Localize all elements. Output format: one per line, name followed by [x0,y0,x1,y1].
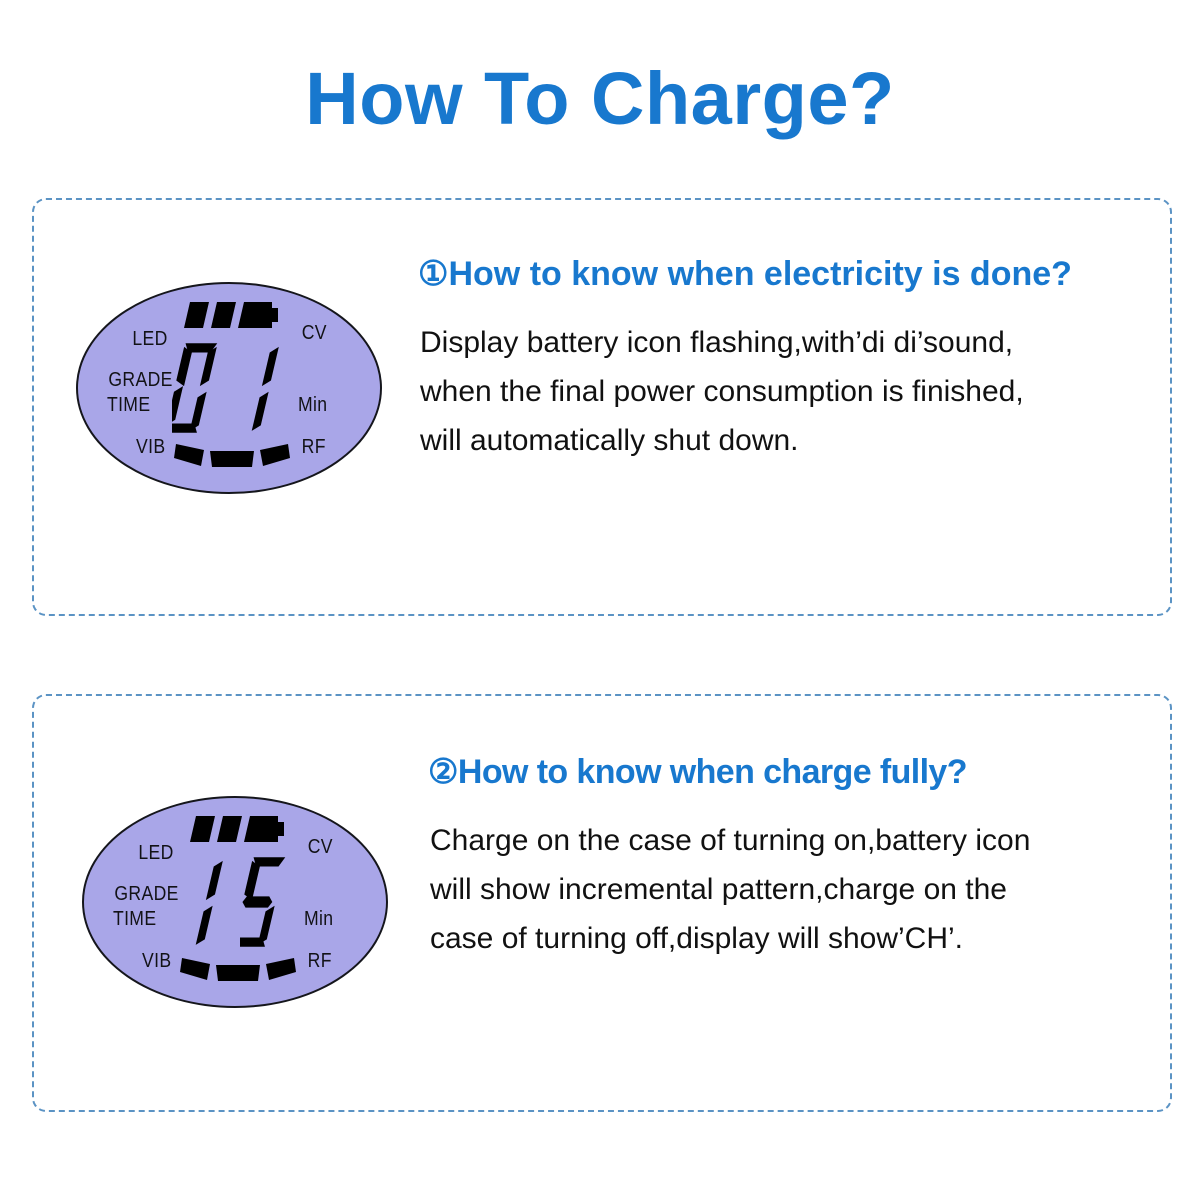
page-title: How To Charge? [0,62,1200,136]
lcd-digit-1 [240,852,296,952]
body-line: Display battery icon flashing,with’di di… [420,318,1160,367]
lcd-label-min: Min [304,908,333,931]
arc-segments-icon [180,952,296,984]
instruction-card-2: LED GRADE TIME VIB CV Min RF ②How to kno… [32,694,1172,1112]
lcd-label-grade: GRADE [108,369,172,392]
battery-icon [190,812,288,846]
body-line: Charge on the case of turning on,battery… [430,816,1160,865]
lcd-display-2: LED GRADE TIME VIB CV Min RF [82,796,388,1008]
lcd-label-min: Min [298,394,327,417]
how-to-charge-page: How To Charge? [0,0,1200,1200]
instruction-card-1: LED GRADE TIME VIB CV Min RF ①How to kno… [32,198,1172,616]
lcd-display-1: LED GRADE TIME VIB CV Min RF [76,282,382,494]
body-line: case of turning off,display will show’CH… [430,914,1160,963]
card-body-2: Charge on the case of turning on,battery… [430,816,1160,963]
lcd-label-cv: CV [302,322,327,345]
battery-icon [184,298,282,332]
lcd-digit-1 [234,338,290,438]
body-line: will show incremental pattern,charge on … [430,865,1160,914]
lcd-digit-0 [172,338,228,438]
lcd-label-led: LED [138,842,173,865]
lcd-label-time: TIME [113,908,156,931]
lcd-label-led: LED [132,328,167,351]
lcd-label-grade: GRADE [114,883,178,906]
body-line: will automatically shut down. [420,416,1160,465]
card-body-1: Display battery icon flashing,with’di di… [420,318,1160,465]
card-heading-2: ②How to know when charge fully? [428,754,967,791]
arc-segments-icon [174,438,290,470]
lcd-digit-0 [178,852,234,952]
lcd-label-rf: RF [308,950,332,973]
lcd-label-cv: CV [308,836,333,859]
body-line: when the final power consumption is fini… [420,367,1160,416]
card-heading-1: ①How to know when electricity is done? [418,256,1072,293]
lcd-label-time: TIME [107,394,150,417]
lcd-label-rf: RF [302,436,326,459]
lcd-label-vib: VIB [136,436,165,459]
lcd-label-vib: VIB [142,950,171,973]
